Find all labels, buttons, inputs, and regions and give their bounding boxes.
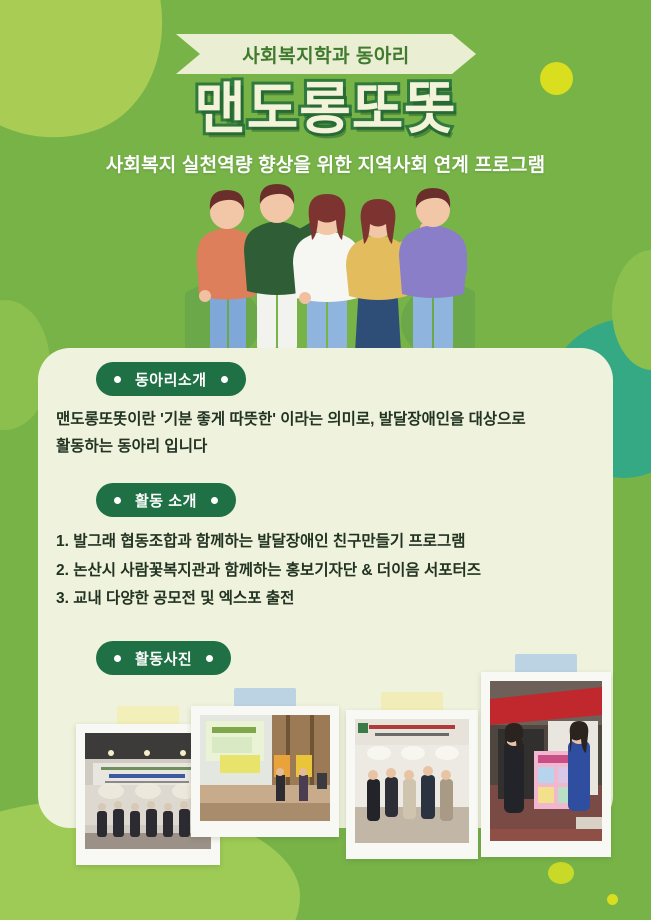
decor-circle-bottom-a — [548, 862, 574, 884]
content-card: 동아리소개 맨도롱또똣이란 '기분 좋게 따뜻한' 이라는 의미로, 발달장애인… — [38, 348, 613, 828]
photo-item[interactable] — [346, 710, 478, 859]
ribbon-banner: 사회복지학과 동아리 — [176, 34, 476, 74]
bullet-dot-icon — [114, 497, 121, 504]
list-item: 3. 교내 다양한 공모전 및 엑스포 출전 — [56, 585, 596, 614]
page-title: 맨도롱또똣 — [0, 80, 651, 139]
photo-item[interactable] — [191, 706, 339, 837]
badge-photos: 활동사진 — [96, 641, 231, 675]
badge-intro: 동아리소개 — [96, 362, 246, 396]
activities-list: 1. 발그래 협동조합과 함께하는 발달장애인 친구만들기 프로그램 2. 논산… — [56, 528, 596, 614]
photo-item[interactable] — [481, 672, 611, 857]
group-illustration — [185, 172, 475, 357]
bullet-dot-icon — [114, 376, 121, 383]
badge-activities: 활동 소개 — [96, 483, 236, 517]
photo-frame — [191, 706, 339, 837]
badge-intro-label: 동아리소개 — [135, 369, 207, 390]
badge-photos-label: 활동사진 — [135, 648, 192, 669]
intro-line-1: 맨도롱또똣이란 '기분 좋게 따뜻한' 이라는 의미로, 발달장애인을 대상으로 — [56, 406, 596, 433]
list-item: 2. 논산시 사람꽃복지관과 함께하는 홍보기자단 & 더이음 서포터즈 — [56, 557, 596, 586]
photo-gallery — [38, 678, 613, 828]
photo-image-exhibition — [355, 719, 469, 843]
section-activities-header: 활동 소개 — [96, 483, 236, 517]
section-intro-header: 동아리소개 — [96, 362, 246, 396]
decor-circle-bottom-b — [607, 894, 618, 905]
photo-frame — [481, 672, 611, 857]
badge-activities-label: 활동 소개 — [135, 490, 197, 511]
bullet-dot-icon — [221, 376, 228, 383]
ribbon-label: 사회복지학과 동아리 — [176, 34, 476, 74]
intro-line-2: 활동하는 동아리 입니다 — [56, 433, 596, 460]
photo-image-presentation — [200, 715, 330, 821]
bullet-dot-icon — [206, 655, 213, 662]
photo-image-booth — [490, 681, 602, 841]
section-photos-header: 활동사진 — [96, 641, 231, 675]
photo-frame — [346, 710, 478, 859]
bullet-dot-icon — [211, 497, 218, 504]
poster-root: 사회복지학과 동아리 맨도롱또똣 사회복지 실천역량 향상을 위한 지역사회 연… — [0, 0, 651, 920]
intro-paragraph: 맨도롱또똣이란 '기분 좋게 따뜻한' 이라는 의미로, 발달장애인을 대상으로… — [56, 406, 596, 460]
list-item: 1. 발그래 협동조합과 함께하는 발달장애인 친구만들기 프로그램 — [56, 528, 596, 557]
bullet-dot-icon — [114, 655, 121, 662]
